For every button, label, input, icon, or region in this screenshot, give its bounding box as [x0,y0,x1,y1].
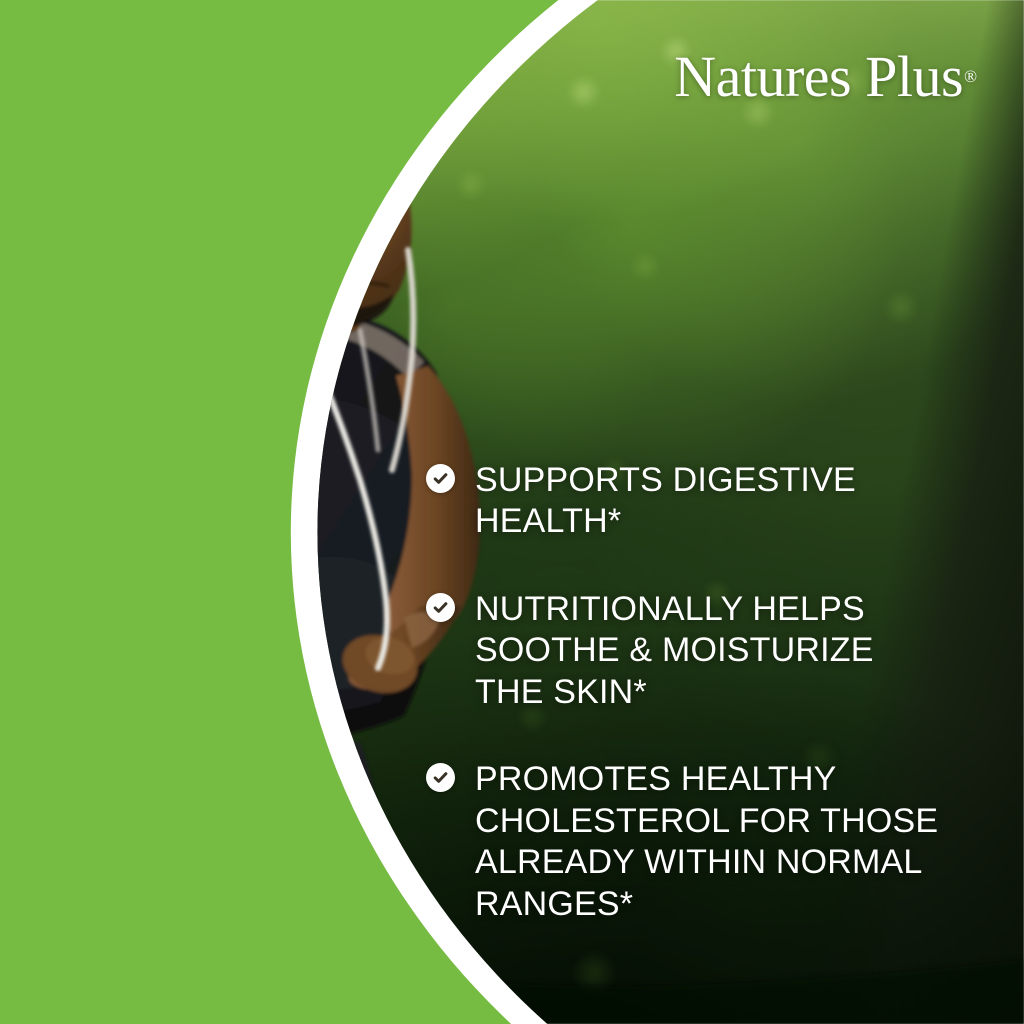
benefit-item: NUTRITIONALLY HELPS SOOTHE & MOISTURIZE … [426,589,946,713]
promo-banner: Natures Plus® SUPPORTS DIGESTIVE HEALTH*… [0,0,1024,1024]
brand-logo: Natures Plus® [674,48,976,106]
benefit-item: PROMOTES HEALTHY CHOLESTEROL FOR THOSE A… [426,759,946,925]
benefit-label: SUPPORTS DIGESTIVE HEALTH* [475,460,946,543]
benefit-item: SUPPORTS DIGESTIVE HEALTH* [426,460,946,543]
benefits-list: SUPPORTS DIGESTIVE HEALTH* NUTRITIONALLY… [426,460,946,925]
registered-trademark-icon: ® [964,67,977,86]
benefit-label: PROMOTES HEALTHY CHOLESTEROL FOR THOSE A… [475,759,946,925]
check-circle-icon [426,593,455,622]
benefit-label: NUTRITIONALLY HELPS SOOTHE & MOISTURIZE … [475,589,946,713]
brand-logo-text: Natures Plus [674,44,963,109]
check-circle-icon [426,763,455,792]
check-circle-icon [426,464,455,493]
